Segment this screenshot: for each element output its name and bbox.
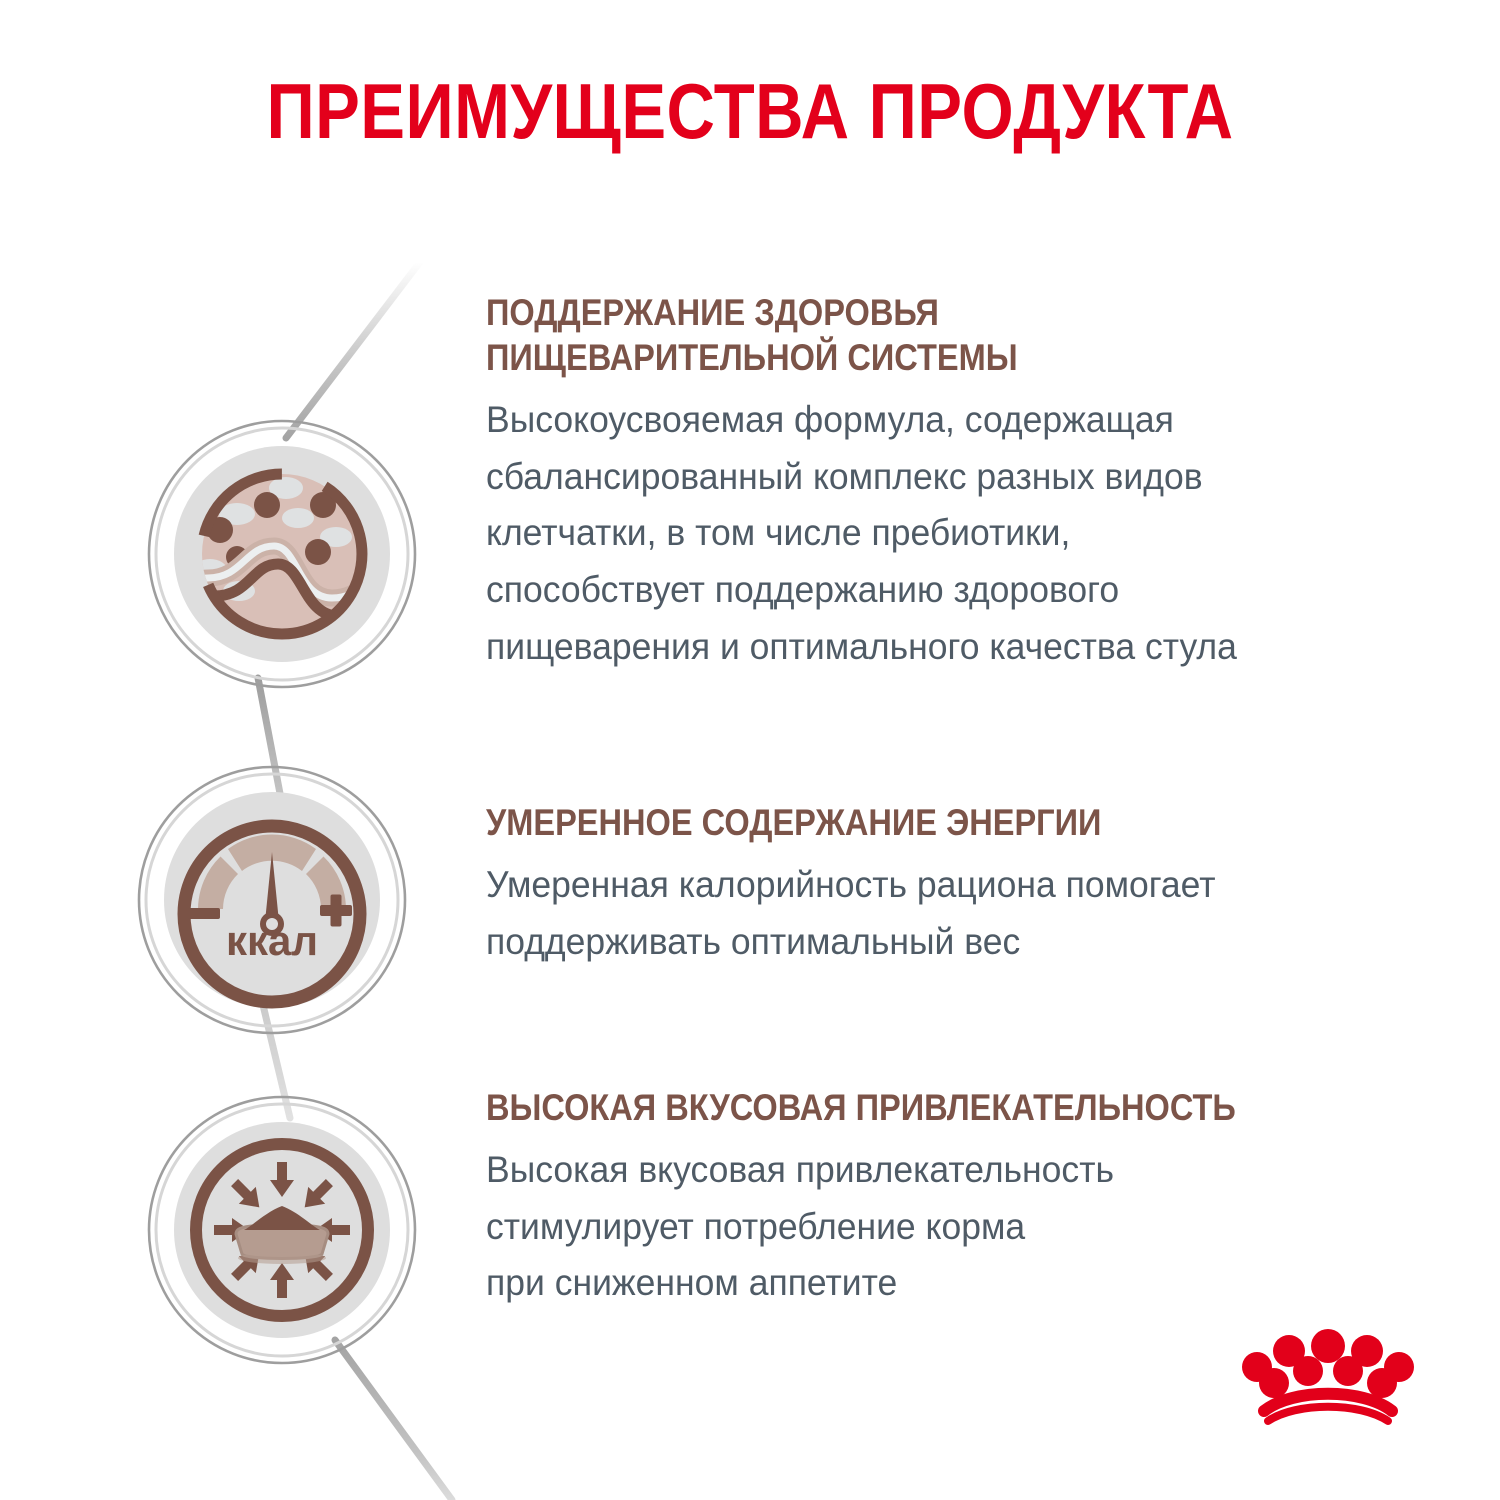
benefit-icon-3 [146,1094,418,1366]
brand-logo [1238,1326,1418,1426]
benefit-heading-3: ВЫСОКАЯ ВКУСОВАЯ ПРИВЛЕКАТЕЛЬНОСТЬ [486,1085,1348,1130]
royal-canin-crown-logo [1238,1326,1418,1426]
moderate-energy-gauge-icon: ккал [136,764,408,1036]
benefit-block-3: ВЫСОКАЯ ВКУСОВАЯ ПРИВЛЕКАТЕЛЬНОСТЬ Высок… [486,1085,1466,1312]
benefit-body-3: Высокая вкусовая привлекательность стиму… [486,1142,1427,1312]
benefit-block-2: УМЕРЕННОЕ СОДЕРЖАНИЕ ЭНЕРГИИ Умеренная к… [486,800,1466,970]
digestive-health-icon [146,418,418,690]
kcal-label: ккал [226,917,318,964]
benefit-heading-1: ПОДДЕРЖАНИЕ ЗДОРОВЬЯ ПИЩЕВАРИТЕЛЬНОЙ СИС… [486,290,1348,380]
benefit-body-2: Умеренная калорийность рациона помогает … [486,857,1427,970]
benefit-body-1: Высокоусвояемая формула, содержащая сбал… [486,392,1427,675]
poster-root: ПРЕИМУЩЕСТВА ПРОДУКТА [0,0,1500,1500]
palatability-bowl-icon [146,1094,418,1366]
benefit-icon-2: ккал [136,764,408,1036]
benefit-block-1: ПОДДЕРЖАНИЕ ЗДОРОВЬЯ ПИЩЕВАРИТЕЛЬНОЙ СИС… [486,290,1466,675]
benefit-icon-1 [146,418,418,690]
benefit-heading-2: УМЕРЕННОЕ СОДЕРЖАНИЕ ЭНЕРГИИ [486,800,1348,845]
